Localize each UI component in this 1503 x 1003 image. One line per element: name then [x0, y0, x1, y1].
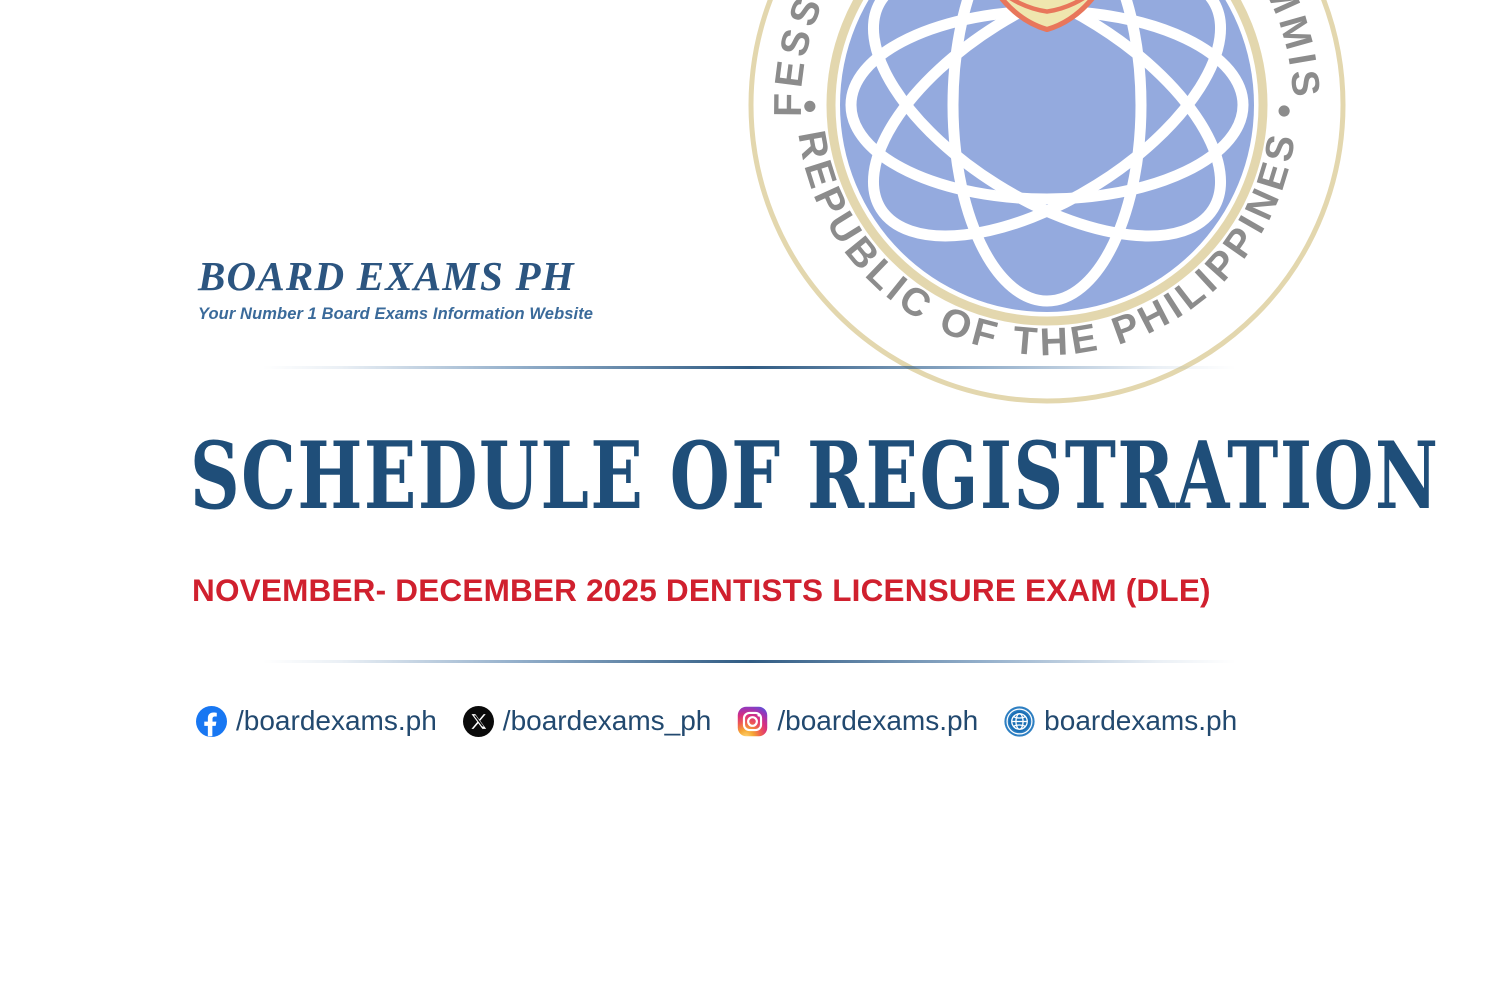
seal-text-top: PROFESSIONAL REGULATION COMMISSION [737, 0, 1327, 117]
website-handle: boardexams.ph [1044, 705, 1237, 737]
social-link-instagram[interactable]: /boardexams.ph [737, 699, 978, 743]
prc-seal: PROFESSIONAL REGULATION COMMISSION • REP… [737, 0, 1357, 415]
facebook-icon [196, 706, 227, 737]
crown-emblem [980, 0, 1113, 29]
divider-top [263, 366, 1236, 369]
page-title: SCHEDULE OF REGISTRATION [190, 429, 1048, 522]
x-twitter-icon [463, 706, 494, 737]
page-subtitle: NOVEMBER- DECEMBER 2025 DENTISTS LICENSU… [192, 572, 1211, 609]
social-link-facebook[interactable]: /boardexams.ph [196, 699, 437, 743]
instagram-handle: /boardexams.ph [777, 705, 978, 737]
brand-tagline: Your Number 1 Board Exams Information We… [198, 305, 898, 324]
instagram-icon [737, 706, 768, 737]
seal-text-bottom: • REPUBLIC OF THE PHILIPPINES • [788, 99, 1306, 364]
divider-bottom [263, 660, 1236, 663]
brand-logo: BOARD EXAMS PH Your Number 1 Board Exams… [198, 255, 898, 324]
x-handle: /boardexams_ph [503, 705, 712, 737]
social-link-website[interactable]: boardexams.ph [1004, 699, 1237, 743]
facebook-handle: /boardexams.ph [236, 705, 437, 737]
brand-title: BOARD EXAMS PH [198, 255, 898, 298]
social-links-row: /boardexams.ph /boardexams_ph [196, 699, 1237, 743]
social-link-x[interactable]: /boardexams_ph [463, 699, 712, 743]
globe-website-icon [1004, 706, 1035, 737]
